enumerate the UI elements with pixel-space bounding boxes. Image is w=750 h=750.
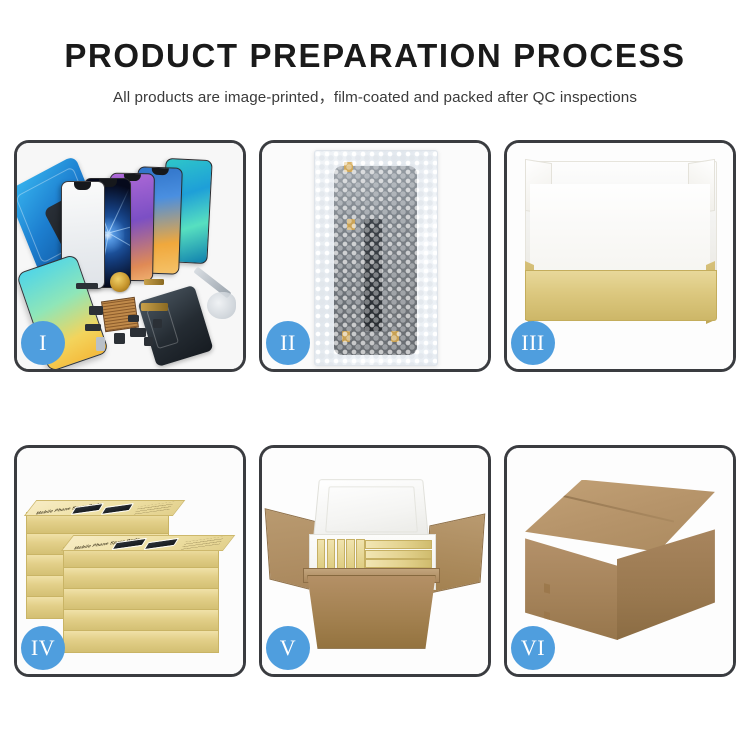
box-window-icon <box>100 503 133 515</box>
process-step-5: V <box>259 445 491 677</box>
small-part-icon <box>128 315 139 322</box>
carton-seam-icon <box>559 494 674 522</box>
yellow-box-icon <box>365 550 432 559</box>
process-step-4: Mobile Phone Spare Parts <box>14 445 246 677</box>
process-step-6: VI <box>504 445 736 677</box>
small-part-icon <box>89 306 103 315</box>
retail-box: Mobile Phone Spare Parts <box>26 512 169 535</box>
page-title: PRODUCT PREPARATION PROCESS <box>0 38 750 74</box>
tape-icon <box>342 331 351 342</box>
step-number-badge: VI <box>511 626 555 670</box>
flex-cable-icon <box>364 219 382 331</box>
step-number-badge: V <box>266 626 310 670</box>
retail-box <box>63 630 219 653</box>
process-step-grid: I II <box>14 140 736 677</box>
page-subtitle: All products are image-printed，film-coat… <box>0 85 750 107</box>
flex-cable-icon <box>141 303 168 311</box>
phone-back-shell-icon <box>137 285 213 367</box>
box-spec-lines-icon <box>181 536 225 549</box>
retail-box: Mobile Phone Spare Parts <box>63 547 219 570</box>
tape-icon <box>344 162 353 173</box>
notch-icon <box>152 167 170 175</box>
flex-cable-icon <box>144 279 164 286</box>
phone-screen-fan <box>76 159 243 290</box>
small-part-icon <box>153 319 162 328</box>
step-number-badge: I <box>21 321 65 365</box>
small-part-icon <box>85 324 101 331</box>
box-lid: Mobile Phone Spare Parts <box>61 535 235 551</box>
yellow-box-icon <box>365 540 432 549</box>
notch-icon <box>74 182 91 189</box>
box-window-icon <box>144 537 179 549</box>
step-number-badge: II <box>266 321 310 365</box>
tool-bundle-icon <box>207 292 236 319</box>
carton-left-face-icon <box>525 538 618 640</box>
retail-box <box>63 609 219 632</box>
step-number-badge: III <box>511 321 555 365</box>
carton-tape-icon <box>544 583 550 594</box>
process-step-1: I <box>14 140 246 372</box>
box-front-panel-icon <box>525 270 717 322</box>
small-part-icon <box>96 337 105 351</box>
small-part-icon <box>130 328 146 337</box>
small-part-icon <box>76 283 99 289</box>
foam-box-lid-icon <box>313 480 430 542</box>
bubble-wrap-bag-icon <box>314 150 438 367</box>
retail-box <box>63 567 219 590</box>
product-preparation-infographic: PRODUCT PREPARATION PROCESS All products… <box>0 0 750 750</box>
header: PRODUCT PREPARATION PROCESS All products… <box>0 0 750 107</box>
tape-icon <box>347 219 356 230</box>
box-spec-lines-icon <box>135 502 176 515</box>
process-step-3: III <box>504 140 736 372</box>
box-lid: Mobile Phone Spare Parts <box>24 500 185 516</box>
retail-box <box>63 588 219 611</box>
carton-body-icon <box>307 575 436 649</box>
tape-icon <box>391 331 400 342</box>
foam-lining-icon <box>530 184 711 274</box>
process-step-2: II <box>259 140 491 372</box>
step-number-badge: IV <box>21 626 65 670</box>
carton-tape-icon <box>544 611 550 622</box>
gold-coil-icon <box>110 272 130 292</box>
small-part-icon <box>114 333 125 344</box>
yellow-box-icon <box>365 559 432 568</box>
small-part-icon <box>144 337 153 346</box>
